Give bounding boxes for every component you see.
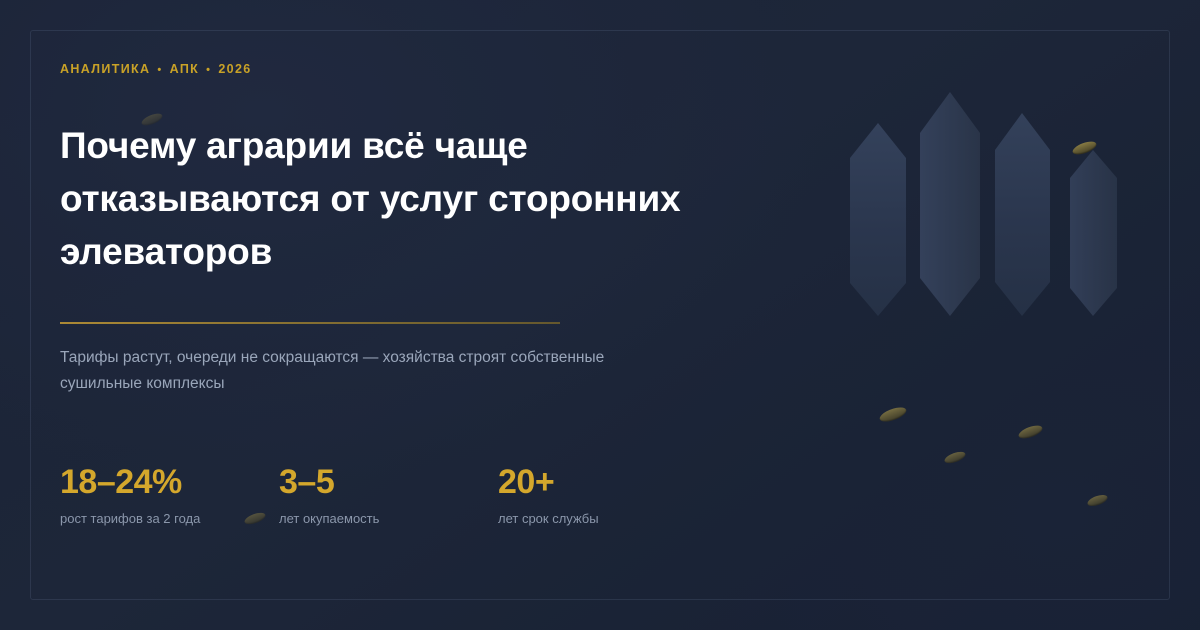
grain-kernel-icon-6 <box>1086 493 1109 509</box>
stat-label: рост тарифов за 2 года <box>60 510 279 528</box>
stat-item-tariff-growth: 18–24% рост тарифов за 2 года <box>60 462 279 528</box>
eyebrow-year: 2026 <box>218 62 251 76</box>
poster-canvas: АНАЛИТИКА•АПК•2026 Почему аграрии всё ча… <box>0 0 1200 630</box>
stat-item-service-life: 20+ лет срок службы <box>498 462 717 528</box>
stat-value: 3–5 <box>279 462 498 502</box>
stat-value: 20+ <box>498 462 717 502</box>
page-title: Почему аграрии всё чаще отказываются от … <box>60 119 740 278</box>
grain-silo-icon-3 <box>995 113 1050 316</box>
grain-kernel-icon-3 <box>878 405 908 425</box>
page-subtitle: Тарифы растут, очереди не сокращаются — … <box>60 345 660 397</box>
eyebrow-category: АНАЛИТИКА <box>60 62 150 76</box>
stat-value: 18–24% <box>60 462 279 502</box>
stats-row: 18–24% рост тарифов за 2 года 3–5 лет ок… <box>60 462 717 528</box>
eyebrow-separator-2: • <box>206 64 211 76</box>
stat-label: лет окупаемость <box>279 510 498 528</box>
stat-label: лет срок службы <box>498 510 717 528</box>
stat-item-payback-period: 3–5 лет окупаемость <box>279 462 498 528</box>
gold-divider-rule <box>60 322 560 324</box>
grain-silo-icon-1 <box>850 123 906 316</box>
grain-silo-icon-4 <box>1070 150 1117 316</box>
grain-kernel-icon-2 <box>1071 139 1098 157</box>
eyebrow-sector: АПК <box>170 62 200 76</box>
eyebrow-kicker: АНАЛИТИКА•АПК•2026 <box>60 62 820 76</box>
grain-silo-icon-2 <box>920 92 980 316</box>
eyebrow-separator-1: • <box>157 64 162 76</box>
content-block: АНАЛИТИКА•АПК•2026 Почему аграрии всё ча… <box>60 62 820 397</box>
grain-kernel-icon-4 <box>1017 423 1044 441</box>
grain-kernel-icon-5 <box>943 450 967 466</box>
